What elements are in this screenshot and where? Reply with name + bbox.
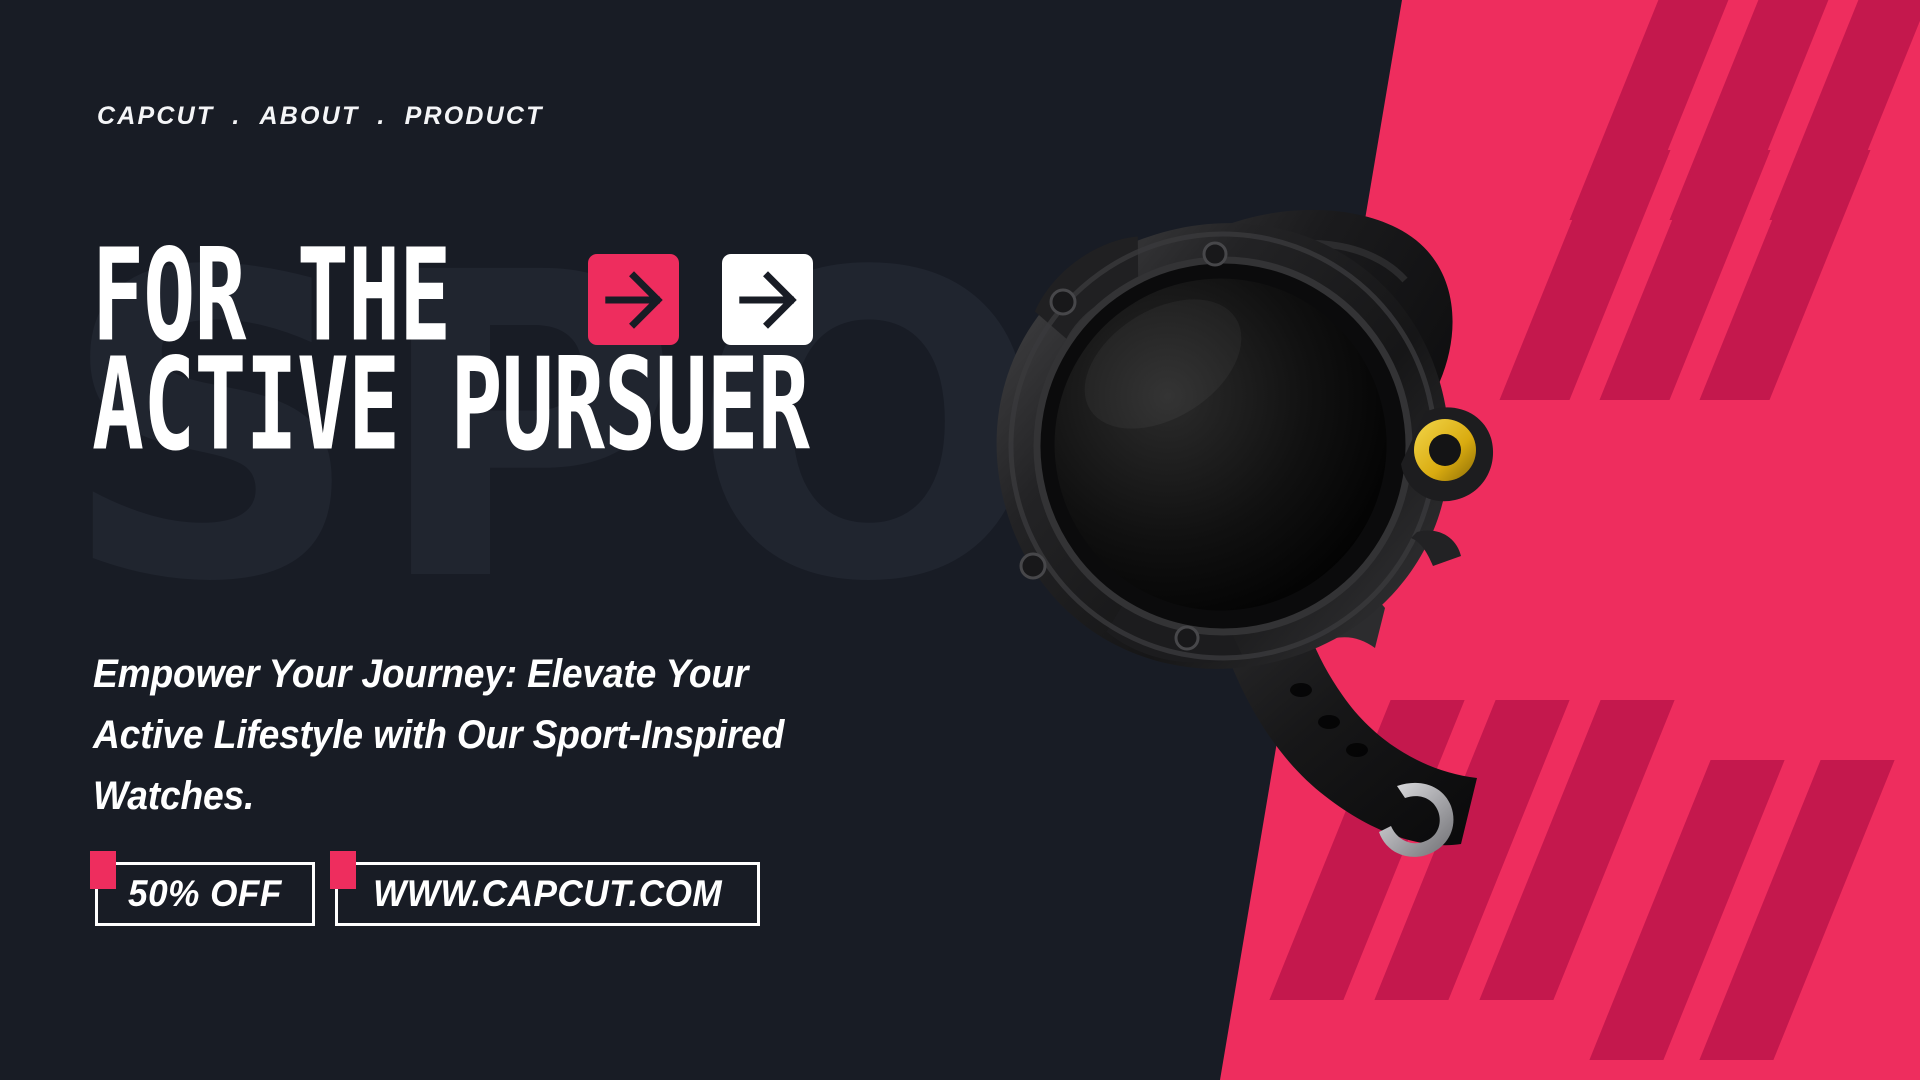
banner-canvas: SPORT CAPCUT . ABOUT . PRODUCT FOR THE bbox=[0, 0, 1920, 1080]
nav-separator: . bbox=[216, 102, 257, 131]
corner-accent-square bbox=[330, 851, 356, 889]
hero-paragraph: Empower Your Journey: Elevate Your Activ… bbox=[93, 644, 800, 826]
product-image-smartwatch bbox=[905, 150, 1525, 870]
nav-item-product[interactable]: PRODUCT bbox=[403, 102, 546, 131]
corner-accent-square bbox=[90, 851, 116, 889]
nav-item-about[interactable]: ABOUT bbox=[258, 102, 362, 131]
discount-badge[interactable]: 50% OFF bbox=[95, 862, 315, 926]
website-badge[interactable]: WWW.CAPCUT.COM bbox=[335, 862, 760, 926]
nav-separator: . bbox=[361, 102, 402, 131]
website-label: WWW.CAPCUT.COM bbox=[373, 873, 722, 915]
top-navigation: CAPCUT . ABOUT . PRODUCT bbox=[95, 102, 546, 131]
arrow-right-icon bbox=[599, 265, 669, 335]
cta-group: 50% OFF WWW.CAPCUT.COM bbox=[95, 862, 760, 926]
headline-line-2: ACTIVE PURSUER bbox=[92, 347, 748, 464]
nav-item-capcut[interactable]: CAPCUT bbox=[95, 102, 216, 131]
discount-label: 50% OFF bbox=[128, 873, 282, 915]
arrow-right-icon bbox=[733, 265, 803, 335]
smartwatch-illustration bbox=[905, 150, 1525, 870]
hero-heading-group: FOR THE ACTIVE PURSUER bbox=[92, 247, 912, 456]
